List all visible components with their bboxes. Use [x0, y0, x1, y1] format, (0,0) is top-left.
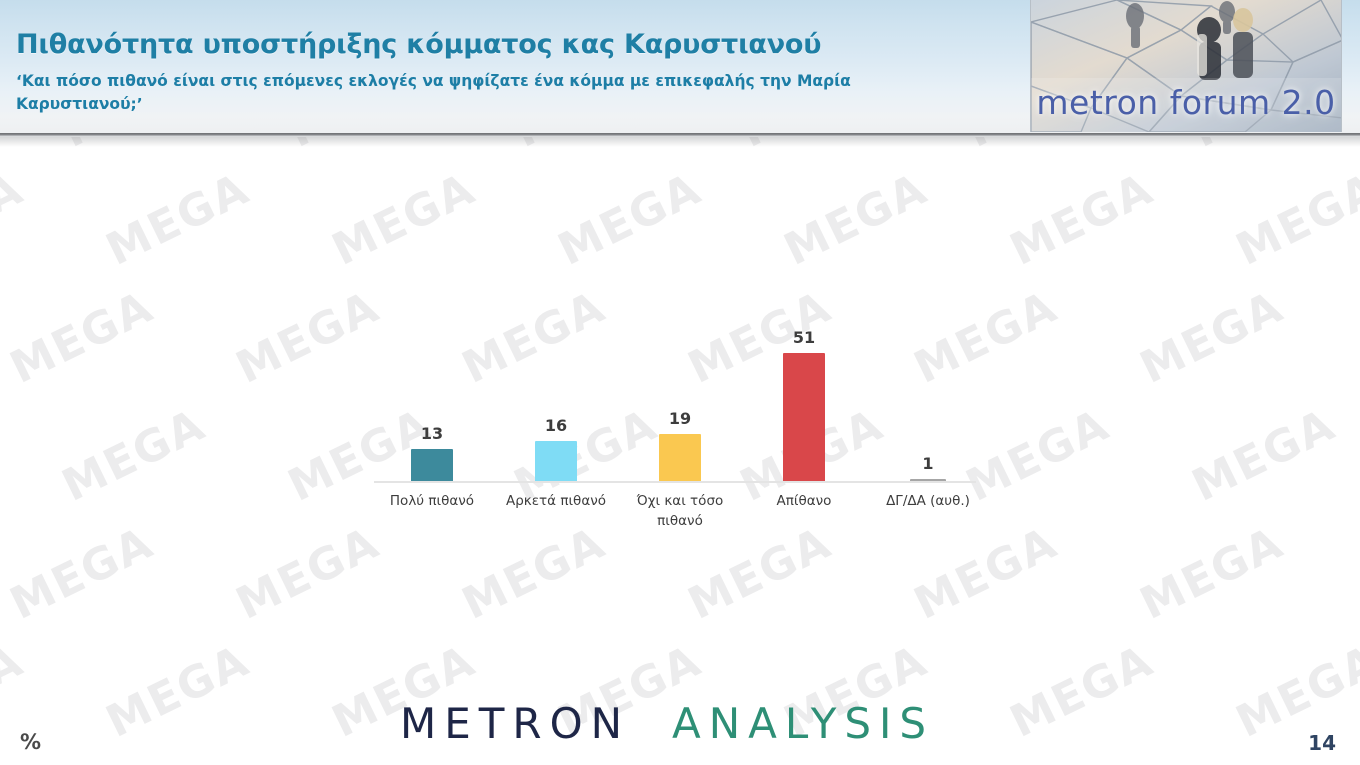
metron-forum-logo-text: metron forum 2.0: [1031, 83, 1341, 122]
svg-text:METRON: METRON: [400, 700, 630, 748]
bar-column: 16: [494, 330, 618, 482]
chart-bar: [535, 441, 577, 482]
watermark-row: MEGAMEGAMEGAMEGAMEGAMEGAMEGAMEGAMEGAMEGA…: [0, 548, 1360, 666]
bar-column: 19: [618, 330, 742, 482]
page-title: Πιθανότητα υποστήριξης κόμματος κας Καρυ…: [16, 30, 1016, 60]
watermark-text: MEGA: [1229, 163, 1360, 275]
chart-bar-group: 16: [494, 330, 618, 482]
slide-root: MEGAMEGAMEGAMEGAMEGAMEGAMEGAMEGAMEGAMEGA…: [0, 0, 1360, 765]
svg-text:ANALYSIS: ANALYSIS: [672, 700, 934, 748]
chart-bar-value-label: 13: [370, 424, 494, 443]
metron-analysis-brand: METRON ANALYSIS: [0, 700, 1360, 756]
chart-bar-group: 51: [742, 330, 866, 482]
chart-bar-group: 19: [618, 330, 742, 482]
watermark-text: MEGA: [0, 163, 32, 275]
watermark-text: MEGA: [3, 281, 162, 393]
watermark-text: MEGA: [325, 163, 484, 275]
chart-category-label: Απίθανο: [742, 492, 866, 512]
watermark-text: MEGA: [551, 163, 710, 275]
watermark-text: MEGA: [229, 517, 388, 629]
chart-bar: [659, 434, 701, 482]
watermark-text: MEGA: [3, 517, 162, 629]
chart-bar: [783, 353, 825, 482]
watermark-text: MEGA: [1003, 163, 1162, 275]
page-number: 14: [1308, 731, 1336, 755]
chart-bar: [411, 449, 453, 482]
metron-analysis-wordmark: METRON ANALYSIS: [400, 700, 960, 752]
bar-column: 13: [370, 330, 494, 482]
chart-category-label: Πολύ πιθανό: [370, 492, 494, 512]
bar-chart: 131619511 Πολύ πιθανόΑρκετά πιθανόΌχι κα…: [370, 330, 990, 540]
chart-category-label: Όχι και τόσο πιθανό: [618, 492, 742, 531]
watermark-text: MEGA: [1185, 399, 1344, 511]
watermark-text: MEGA: [777, 163, 936, 275]
bar-column: 51: [742, 330, 866, 482]
bar-column: 1: [866, 330, 990, 482]
watermark-text: MEGA: [229, 281, 388, 393]
watermark-row: MEGAMEGAMEGAMEGAMEGAMEGAMEGAMEGAMEGAMEGA…: [0, 194, 1360, 312]
chart-category-label: Αρκετά πιθανό: [494, 492, 618, 512]
watermark-text: MEGA: [1133, 517, 1292, 629]
watermark-text: MEGA: [55, 399, 214, 511]
chart-x-axis-line: [374, 481, 976, 483]
chart-bar-value-label: 16: [494, 416, 618, 435]
chart-bar-value-label: 1: [866, 454, 990, 473]
header-shadow: [0, 137, 1360, 147]
percent-unit-label: %: [20, 730, 41, 754]
chart-bar-value-label: 51: [742, 328, 866, 347]
metron-forum-logo: metron forum 2.0: [1030, 0, 1342, 132]
page-subtitle: ‘Και πόσο πιθανό είναι στις επόμενες εκλ…: [16, 70, 946, 116]
watermark-text: MEGA: [99, 163, 258, 275]
chart-bar-group: 13: [370, 330, 494, 482]
header-divider-rule: [0, 133, 1360, 137]
watermark-text: MEGA: [1133, 281, 1292, 393]
chart-category-label: ΔΓ/ΔΑ (αυθ.): [866, 492, 990, 512]
chart-plot-area: 131619511: [370, 330, 990, 482]
chart-bar-value-label: 19: [618, 409, 742, 428]
chart-bar-group: 1: [866, 330, 990, 482]
